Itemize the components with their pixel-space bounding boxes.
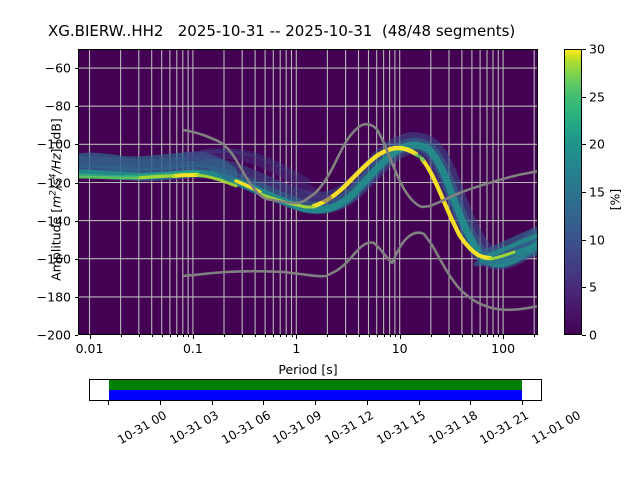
timeline-tick-label: 10-31 09 (271, 408, 325, 447)
colorbar[interactable] (564, 49, 582, 335)
coverage-bar-blue (109, 390, 522, 400)
colorbar-tick-label: 30 (589, 42, 605, 57)
timeline-tick-label: 10-31 21 (478, 408, 532, 447)
y-axis-label-suffix: ] [dB] (49, 118, 64, 153)
data-coverage-timeline[interactable] (89, 379, 542, 401)
x-tick-label: 1 (292, 341, 300, 356)
coverage-bar-green (109, 380, 522, 390)
colorbar-tick-label: 10 (589, 232, 605, 247)
y-axis-label-den: /s (49, 179, 64, 190)
ppsd-density-cloud (78, 143, 538, 264)
colorbar-tick-label: 5 (589, 280, 597, 295)
timeline-tick-label: 10-31 12 (322, 408, 376, 447)
timeline-tick-label: 10-31 06 (219, 408, 273, 447)
timeline-tick-label: 10-31 15 (374, 408, 428, 447)
colorbar-tick-label: 15 (589, 185, 605, 200)
ppsd-canvas (78, 49, 538, 335)
ppsd-figure: XG.BIERW..HH2 2025-10-31 -- 2025-10-31 (… (0, 0, 640, 480)
x-tick-label: 100 (491, 341, 515, 356)
timeline-tick-label: 11-01 00 (529, 408, 583, 447)
y-axis-label-den-exp: 4 (48, 174, 58, 180)
timeline-tick-label: 10-31 18 (426, 408, 480, 447)
y-axis-label-prefix: Amplitude [ (49, 208, 64, 281)
y-axis-label: Amplitude [m2/s4/Hz] [dB] (49, 70, 64, 330)
x-axis-label: Period [s] (0, 362, 616, 377)
page-title: XG.BIERW..HH2 2025-10-31 -- 2025-10-31 (… (48, 22, 515, 40)
colorbar-tick-label: 20 (589, 137, 605, 152)
y-axis-label-num: m (49, 196, 64, 208)
colorbar-unit-label: [%] (607, 189, 622, 211)
x-tick-label: 10 (392, 341, 408, 356)
ppsd-plot-area[interactable] (78, 49, 538, 335)
timeline-tick-label: 10-31 03 (167, 408, 221, 447)
x-tick-label: 0.1 (183, 341, 203, 356)
y-tick-label: −200 (37, 328, 71, 343)
y-axis-label-num-exp: 2 (48, 190, 58, 196)
colorbar-tick-label: 0 (589, 328, 597, 343)
y-axis-label-hz: /Hz (49, 153, 64, 173)
colorbar-tick-label: 25 (589, 89, 605, 104)
x-tick-label: 0.01 (76, 341, 104, 356)
timeline-tick-label: 10-31 00 (115, 408, 169, 447)
